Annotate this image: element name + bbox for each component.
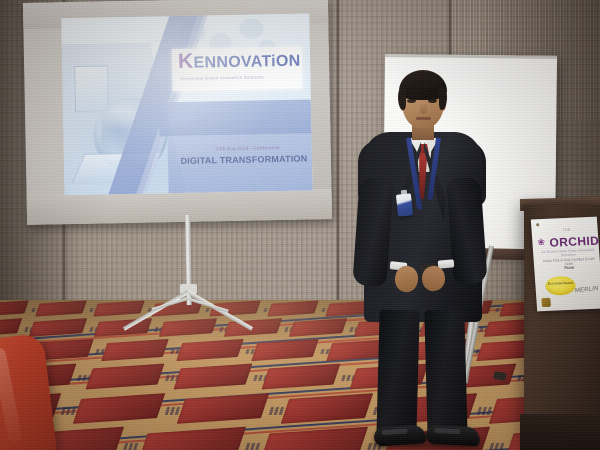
slide-band-upper — [159, 99, 312, 136]
sign-award-badge — [545, 276, 576, 296]
shoe-highlight — [382, 428, 408, 435]
podium-hotel-sign: THE ❀ ORCHID An Ecotel Hotel Environment… — [531, 217, 600, 312]
shoe-highlight — [434, 428, 460, 434]
projection-screen: KENNOVATiON Knowledge Based Innovative S… — [23, 0, 332, 225]
sign-city: Pune — [540, 264, 598, 272]
slide-monitor-graphic — [74, 65, 109, 112]
chair-highlight — [0, 347, 23, 444]
shoe-left — [373, 424, 426, 447]
shoe-right — [426, 425, 481, 447]
trouser-leg-left — [376, 309, 419, 440]
podium-base — [520, 414, 600, 450]
carpet-shading — [0, 300, 600, 450]
logo-letter-k: K — [178, 50, 194, 73]
slide-logo-plate: KENNOVATiON Knowledge Based Innovative S… — [172, 47, 303, 91]
sign-secondary-brand: MERLIN — [575, 286, 599, 294]
projected-slide: KENNOVATiON Knowledge Based Innovative S… — [61, 13, 312, 195]
sign-top-line: THE — [538, 227, 596, 234]
slide-logo-tagline: Knowledge Based Innovative Solutions — [180, 74, 298, 81]
board-easel-foot — [494, 371, 507, 381]
board-top-edge — [385, 54, 557, 59]
nose — [420, 103, 427, 114]
logo-letter-rest: ENNOVATiON — [193, 53, 300, 72]
trouser-leg-right — [424, 309, 467, 440]
sign-pin — [536, 223, 539, 226]
carpet-floor — [0, 300, 600, 450]
hair-sideburn-left — [398, 88, 406, 110]
slide-logo-wordmark: KENNOVATiON — [178, 53, 298, 73]
id-badge — [396, 193, 413, 216]
trousers — [372, 310, 472, 442]
suit-arm-right — [446, 177, 487, 285]
sign-seal-icon — [541, 298, 551, 307]
speaker-figure — [350, 66, 490, 450]
wall-seam — [336, 0, 340, 330]
mouth — [416, 117, 431, 120]
photo-scene: KENNOVATiON Knowledge Based Innovative S… — [0, 0, 600, 450]
